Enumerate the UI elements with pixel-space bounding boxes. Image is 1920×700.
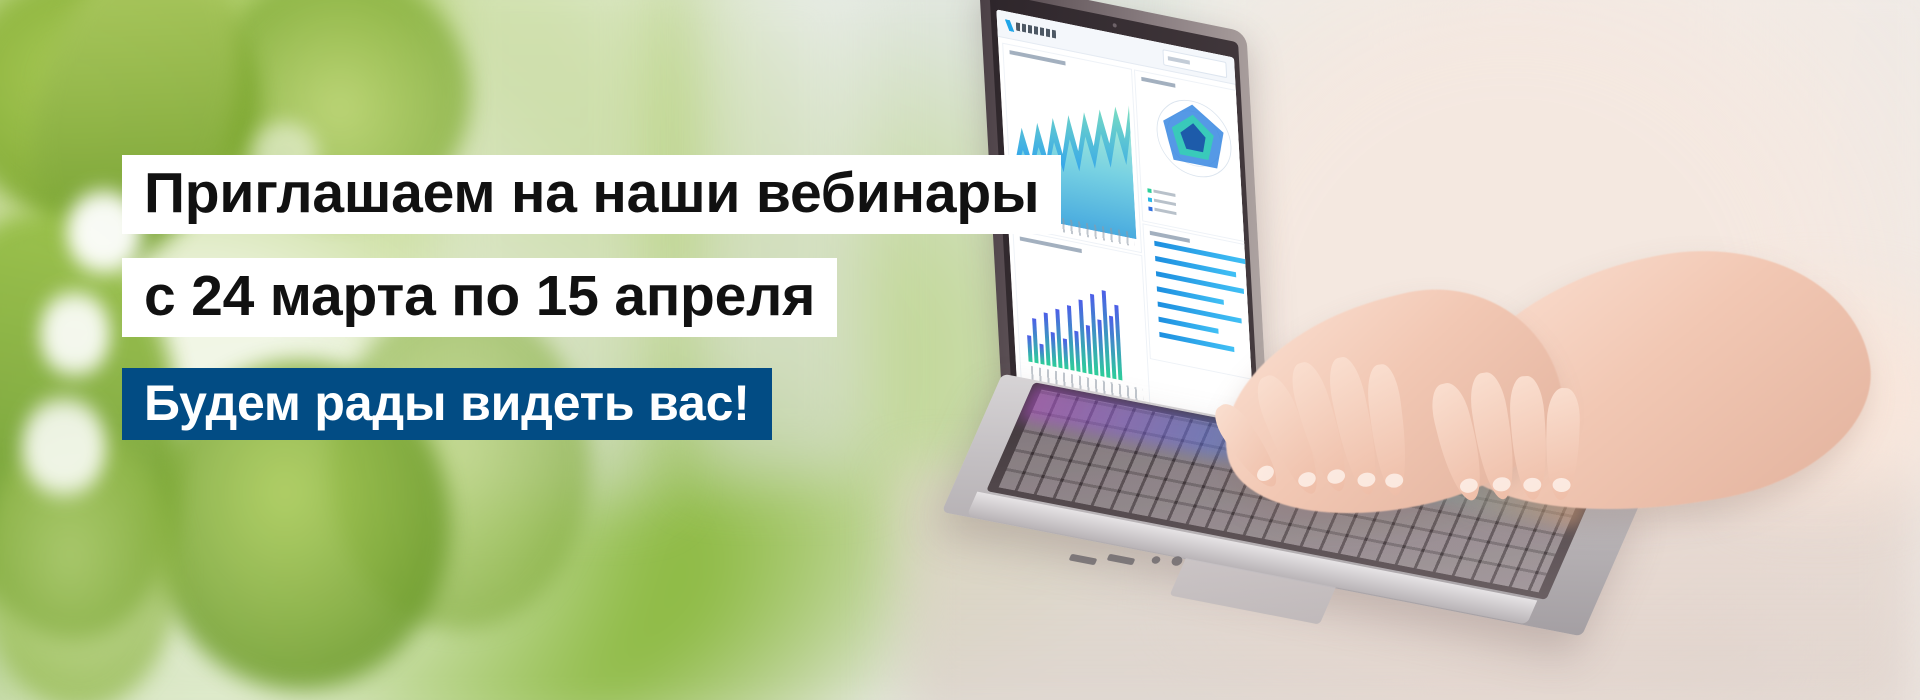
fingernail <box>1491 476 1511 493</box>
fingernail <box>1384 473 1404 489</box>
usb-c-port <box>1069 554 1098 566</box>
band-gap <box>122 234 1061 258</box>
audio-jack <box>1150 556 1161 565</box>
horizontal-bars-icon <box>1154 241 1256 367</box>
card-title <box>1141 77 1175 88</box>
fingernail <box>1523 477 1542 492</box>
promo-text-block: Приглашаем на наши вебинары с 24 марта п… <box>122 155 1061 440</box>
band-gap <box>122 337 1061 368</box>
cta-text: Будем рады видеть вас! <box>122 368 772 440</box>
white-blossom <box>40 286 110 382</box>
fingernail <box>1552 478 1570 493</box>
search-input[interactable] <box>1162 49 1227 78</box>
dates-text: с 24 марта по 15 апреля <box>122 258 837 337</box>
headline-text: Приглашаем на наши вебинары <box>122 155 1061 234</box>
dates-band: с 24 марта по 15 апреля <box>122 258 837 337</box>
chart-legend <box>1147 188 1153 216</box>
fingernail <box>1356 471 1377 488</box>
horizontal-bar-card <box>1142 223 1258 382</box>
fingernail <box>1325 467 1346 486</box>
chart-legend-labels <box>1153 189 1176 221</box>
white-blossom <box>22 392 106 502</box>
headline-band: Приглашаем на наши вебинары <box>122 155 1061 234</box>
card-title <box>1009 50 1065 65</box>
webcam-icon <box>1112 23 1116 28</box>
brand-logo-text <box>1016 22 1056 38</box>
cta-band: Будем рады видеть вас! <box>122 368 772 440</box>
fingernail <box>1296 470 1318 490</box>
radar-chart-icon <box>1150 88 1239 190</box>
usb-c-port <box>1107 554 1136 566</box>
fingernail <box>1458 477 1479 495</box>
brand-logo-icon <box>1005 19 1015 32</box>
radar-chart-card <box>1134 69 1256 244</box>
webinar-promo-banner: Приглашаем на наши вебинары с 24 марта п… <box>0 0 1920 700</box>
